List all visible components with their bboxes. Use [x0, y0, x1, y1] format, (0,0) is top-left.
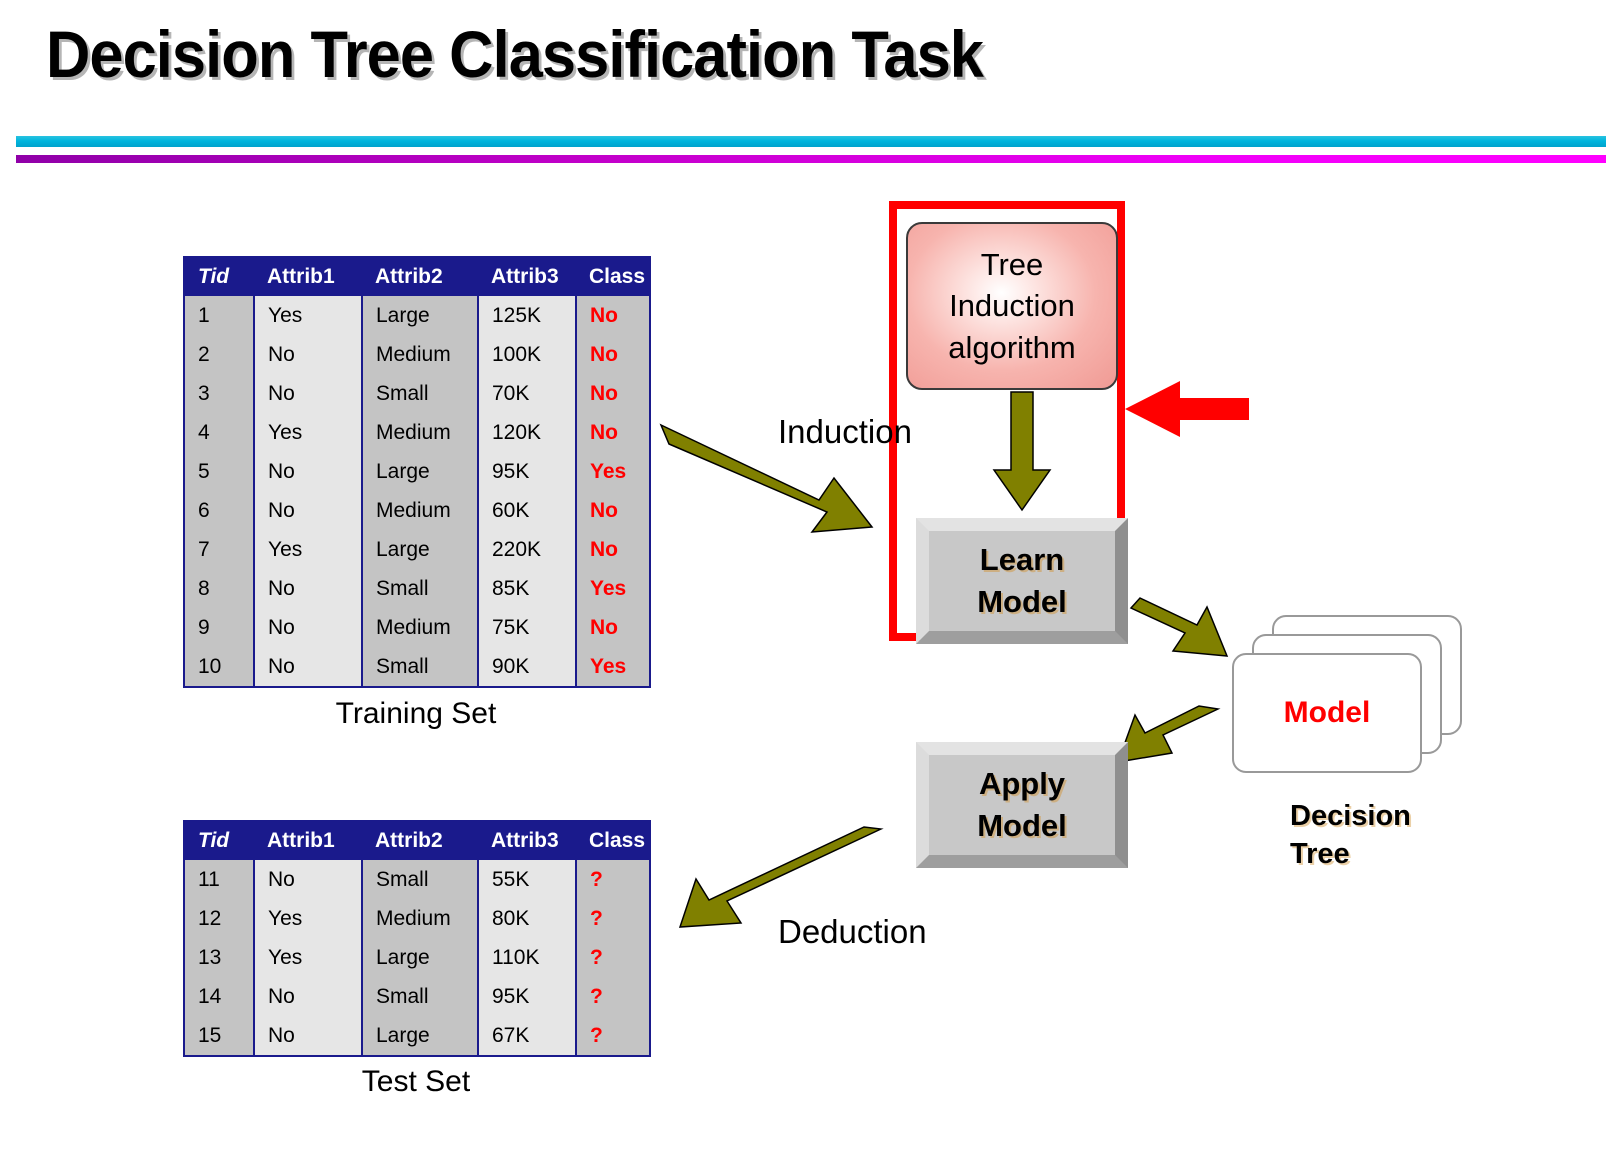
apply-model-line-2: Model — [977, 808, 1067, 843]
table-row: 14NoSmall95K? — [184, 977, 650, 1016]
cell-class: Yes — [576, 569, 650, 608]
cell-attrib2: Small — [362, 860, 478, 899]
table-row: 11NoSmall55K? — [184, 860, 650, 899]
cell-attrib3: 70K — [478, 374, 576, 413]
table-row: 1YesLarge125KNo — [184, 296, 650, 335]
table-row: 8NoSmall85KYes — [184, 569, 650, 608]
cell-attrib2: Large — [362, 452, 478, 491]
cell-class: No — [576, 335, 650, 374]
cell-tid: 7 — [184, 530, 254, 569]
cell-tid: 11 — [184, 860, 254, 899]
column-header-attrib3: Attrib3 — [478, 257, 576, 296]
cell-tid: 12 — [184, 899, 254, 938]
tree-induction-label: Tree Induction algorithm — [948, 244, 1076, 368]
cell-attrib1: No — [254, 647, 362, 687]
cell-attrib2: Medium — [362, 413, 478, 452]
cell-attrib2: Small — [362, 569, 478, 608]
cell-attrib3: 95K — [478, 977, 576, 1016]
cell-attrib3: 110K — [478, 938, 576, 977]
cell-attrib2: Large — [362, 530, 478, 569]
decision-tree-line-1: Decision — [1290, 800, 1411, 832]
apply-model-box[interactable]: Apply Model — [916, 742, 1128, 868]
cell-tid: 9 — [184, 608, 254, 647]
cell-attrib1: Yes — [254, 413, 362, 452]
induction-label: Induction — [778, 413, 912, 451]
model-card-front[interactable]: Model — [1232, 653, 1422, 773]
cell-attrib1: No — [254, 860, 362, 899]
cell-attrib1: Yes — [254, 530, 362, 569]
table-header-row: Tid Attrib1 Attrib2 Attrib3 Class — [184, 821, 650, 860]
table-row: 9NoMedium75KNo — [184, 608, 650, 647]
training-set-caption: Training Set — [183, 697, 649, 731]
table-row: 6NoMedium60KNo — [184, 491, 650, 530]
cell-class: No — [576, 530, 650, 569]
cell-attrib2: Large — [362, 296, 478, 335]
cell-attrib1: No — [254, 1016, 362, 1056]
cell-attrib3: 60K — [478, 491, 576, 530]
cell-class: No — [576, 491, 650, 530]
divider-bar-cyan — [16, 136, 1606, 147]
deduction-label: Deduction — [778, 913, 927, 951]
table-header-row: Tid Attrib1 Attrib2 Attrib3 Class — [184, 257, 650, 296]
column-header-class: Class — [576, 821, 650, 860]
test-set-caption: Test Set — [183, 1065, 649, 1099]
column-header-attrib2: Attrib2 — [362, 257, 478, 296]
tree-induction-line-2: Induction — [949, 288, 1075, 323]
cell-attrib2: Small — [362, 647, 478, 687]
page-title: Decision Tree Classification Task — [46, 16, 983, 92]
deduction-arrow — [680, 827, 881, 927]
cell-class: ? — [576, 1016, 650, 1056]
cell-attrib1: No — [254, 491, 362, 530]
cell-attrib3: 80K — [478, 899, 576, 938]
column-header-tid: Tid — [184, 257, 254, 296]
table-row: 15NoLarge67K? — [184, 1016, 650, 1056]
cell-attrib1: No — [254, 335, 362, 374]
cell-attrib2: Medium — [362, 491, 478, 530]
cell-attrib3: 75K — [478, 608, 576, 647]
cell-attrib1: Yes — [254, 296, 362, 335]
cell-tid: 5 — [184, 452, 254, 491]
table-row: 12YesMedium80K? — [184, 899, 650, 938]
cell-attrib3: 120K — [478, 413, 576, 452]
column-header-attrib1: Attrib1 — [254, 821, 362, 860]
learn-model-line-2: Model — [977, 584, 1067, 619]
cell-attrib3: 95K — [478, 452, 576, 491]
test-set-table: Tid Attrib1 Attrib2 Attrib3 Class 11NoSm… — [183, 820, 651, 1057]
cell-tid: 6 — [184, 491, 254, 530]
decision-tree-line-2: Tree — [1290, 838, 1350, 870]
column-header-tid: Tid — [184, 821, 254, 860]
learn-model-line-1: Learn — [980, 542, 1064, 577]
tree-induction-line-3: algorithm — [948, 330, 1076, 365]
cell-attrib3: 55K — [478, 860, 576, 899]
cell-class: No — [576, 608, 650, 647]
table-row: 5NoLarge95KYes — [184, 452, 650, 491]
divider-bar-magenta — [16, 155, 1606, 163]
learn-to-model-arrow — [1131, 598, 1227, 656]
cell-tid: 13 — [184, 938, 254, 977]
cell-class: Yes — [576, 452, 650, 491]
cell-attrib1: No — [254, 977, 362, 1016]
learn-model-box[interactable]: Learn Model — [916, 518, 1128, 644]
apply-model-line-1: Apply — [979, 766, 1065, 801]
table-row: 2NoMedium100KNo — [184, 335, 650, 374]
red-pointer-arrow — [1125, 381, 1249, 437]
cell-attrib2: Large — [362, 938, 478, 977]
cell-tid: 15 — [184, 1016, 254, 1056]
model-card-label: Model — [1284, 696, 1371, 730]
column-header-attrib1: Attrib1 — [254, 257, 362, 296]
cell-class: No — [576, 374, 650, 413]
cell-tid: 1 — [184, 296, 254, 335]
cell-attrib1: No — [254, 569, 362, 608]
model-to-apply-arrow — [1118, 706, 1218, 762]
tree-induction-algorithm-box[interactable]: Tree Induction algorithm — [906, 222, 1118, 390]
cell-attrib1: Yes — [254, 938, 362, 977]
cell-tid: 2 — [184, 335, 254, 374]
cell-attrib1: Yes — [254, 899, 362, 938]
cell-attrib3: 67K — [478, 1016, 576, 1056]
cell-class: ? — [576, 899, 650, 938]
cell-attrib2: Small — [362, 977, 478, 1016]
cell-attrib3: 90K — [478, 647, 576, 687]
cell-attrib3: 100K — [478, 335, 576, 374]
cell-tid: 14 — [184, 977, 254, 1016]
cell-class: Yes — [576, 647, 650, 687]
apply-model-label: Apply Model — [977, 763, 1067, 847]
table-row: 4YesMedium120KNo — [184, 413, 650, 452]
table-row: 10NoSmall90KYes — [184, 647, 650, 687]
cell-tid: 8 — [184, 569, 254, 608]
cell-attrib3: 220K — [478, 530, 576, 569]
table-row: 13YesLarge110K? — [184, 938, 650, 977]
cell-attrib2: Small — [362, 374, 478, 413]
cell-class: No — [576, 296, 650, 335]
cell-attrib1: No — [254, 374, 362, 413]
cell-tid: 10 — [184, 647, 254, 687]
cell-attrib3: 85K — [478, 569, 576, 608]
cell-class: No — [576, 413, 650, 452]
table-row: 7YesLarge220KNo — [184, 530, 650, 569]
cell-class: ? — [576, 938, 650, 977]
cell-class: ? — [576, 860, 650, 899]
cell-attrib3: 125K — [478, 296, 576, 335]
decision-tree-caption: Decision Tree — [1290, 798, 1411, 873]
training-set-table: Tid Attrib1 Attrib2 Attrib3 Class 1YesLa… — [183, 256, 651, 688]
tree-induction-line-1: Tree — [981, 247, 1044, 282]
cell-attrib2: Medium — [362, 608, 478, 647]
learn-model-label: Learn Model — [977, 539, 1067, 623]
cell-tid: 3 — [184, 374, 254, 413]
cell-attrib2: Medium — [362, 899, 478, 938]
column-header-attrib3: Attrib3 — [478, 821, 576, 860]
cell-attrib1: No — [254, 452, 362, 491]
cell-attrib2: Medium — [362, 335, 478, 374]
table-row: 3NoSmall70KNo — [184, 374, 650, 413]
cell-attrib2: Large — [362, 1016, 478, 1056]
cell-tid: 4 — [184, 413, 254, 452]
cell-attrib1: No — [254, 608, 362, 647]
column-header-class: Class — [576, 257, 650, 296]
column-header-attrib2: Attrib2 — [362, 821, 478, 860]
cell-class: ? — [576, 977, 650, 1016]
